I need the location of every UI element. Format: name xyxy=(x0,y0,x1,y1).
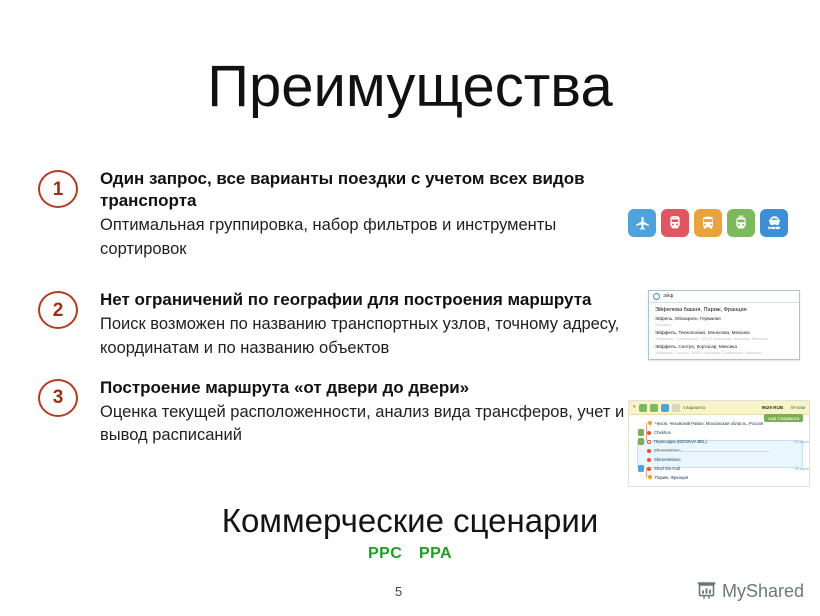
walk-mode-chip-icon xyxy=(672,404,680,412)
ppa-label: PPA xyxy=(419,545,452,562)
route-variants-count: 4 варианта xyxy=(683,405,706,410)
route-leg-row[interactable]: Sheremetievo xyxy=(629,455,809,464)
route-leg-row[interactable]: Chekhov xyxy=(629,428,809,437)
leg-label: Sheremetievo xyxy=(654,457,805,462)
route-duration: 8ч 54м xyxy=(791,405,805,410)
advantage-heading-2: Нет ограничений по географии для построе… xyxy=(100,289,628,311)
leg-note[interactable]: На карте xyxy=(794,440,809,444)
leg-label: Sharl-De-Goll xyxy=(654,466,790,471)
route-leg-row[interactable]: Париж, Франция xyxy=(629,473,809,482)
stop-dot-icon xyxy=(647,431,651,435)
leg-mode-slot xyxy=(637,465,645,472)
page-title: Преимущества xyxy=(0,58,820,116)
route-itinerary-screenshot: ▾ 4 варианта 9629 RUB 8ч 54м ещё 3 вариа… xyxy=(628,400,810,487)
leg-mode-slot xyxy=(637,429,645,436)
leg-mode-slot xyxy=(637,420,645,427)
route-leg-row[interactable]: Sharl-De-Goll На карте xyxy=(629,464,809,473)
advantage-item-1: 1 Один запрос, все варианты поездки с уч… xyxy=(38,168,628,261)
ppc-label: PPC xyxy=(368,545,402,562)
leg-label: Пересадка (MOSKVA BEL) xyxy=(654,439,790,444)
suggestion-subtitle: Эйффель, Сентро, 38300 Кортасар, Гуанаху… xyxy=(655,350,793,355)
suggestion-subtitle: Эйффель, Текнолохико, 25715 Монклова, Ко… xyxy=(655,336,793,341)
suggestion-item[interactable]: Эйффель, Текнолохико, Монклова, Мексика … xyxy=(649,329,799,343)
stop-dot-icon xyxy=(647,458,651,462)
advantage-heading-1: Один запрос, все варианты поездки с учет… xyxy=(100,168,628,212)
location-search-input[interactable]: Эйф xyxy=(649,291,799,303)
plane-mode-chip-icon xyxy=(661,404,669,412)
bus-mode-chip-icon xyxy=(650,404,658,412)
suggestion-item[interactable]: Эйффель, Сентро, Кортасар, Мексика Эйффе… xyxy=(649,342,799,356)
bus-icon xyxy=(694,209,722,237)
page-number: 5 xyxy=(395,584,402,599)
train-mode-chip-icon xyxy=(639,404,647,412)
leg-mode-slot xyxy=(637,474,645,481)
stop-dot-icon xyxy=(647,449,651,453)
stop-dot-icon xyxy=(647,467,651,471)
train-icon xyxy=(661,209,689,237)
leg-mode-slot xyxy=(637,447,645,454)
leg-label: Chekhov xyxy=(654,430,805,435)
route-leg-list: Чехов, Чеховский Район, Московская облас… xyxy=(629,415,809,486)
suggestion-list: Эйфелева башня, Париж, Франция Эйфель, О… xyxy=(649,303,799,359)
transfer-dot-icon xyxy=(647,440,651,444)
suggestion-item[interactable]: Эйфелева башня, Париж, Франция xyxy=(649,305,799,315)
advantage-heading-3: Построение маршрута «от двери до двери» xyxy=(100,377,628,399)
advantage-body-3: Оценка текущей расположенности, анализ в… xyxy=(100,401,628,448)
suggestion-subtitle: Germany xyxy=(655,322,793,327)
myshared-watermark: MyShared xyxy=(696,580,804,601)
leg-label: Париж, Франция xyxy=(655,475,805,480)
advantage-body-1: Оптимальная группировка, набор фильтров … xyxy=(100,214,628,261)
advantage-number-badge-2: 2 xyxy=(38,291,78,329)
ship-icon xyxy=(760,209,788,237)
advantage-number-badge-3: 3 xyxy=(38,379,78,417)
chevron-down-icon[interactable]: ▾ xyxy=(633,405,636,410)
leg-note[interactable]: На карте xyxy=(794,467,809,471)
advantage-item-3: 3 Построение маршрута «от двери до двери… xyxy=(38,377,628,448)
presentation-chart-icon xyxy=(696,580,717,601)
leg-mode-slot xyxy=(637,456,645,463)
transport-mode-icon-row xyxy=(628,209,788,237)
suggestion-item[interactable]: Эйфель, Ойскирхен, Германия Germany xyxy=(649,315,799,329)
route-leg-row[interactable]: Пересадка (MOSKVA BEL) На карте xyxy=(629,437,809,446)
route-summary-header[interactable]: ▾ 4 варианта 9629 RUB 8ч 54м xyxy=(629,401,809,415)
route-leg-row[interactable]: Sheremetievo xyxy=(629,446,809,455)
plane-icon xyxy=(628,209,656,237)
advantage-number-badge-1: 1 xyxy=(38,170,78,208)
commercial-scenarios-title: Коммерческие сценарии xyxy=(0,503,820,539)
ppc-ppa-labels: PPC PPA xyxy=(0,545,820,563)
brand-name: MyShared xyxy=(722,582,804,600)
suggestion-title: Эйфелева башня, Париж, Франция xyxy=(655,307,793,314)
map-pin-icon xyxy=(647,421,652,426)
map-pin-icon xyxy=(647,475,652,480)
advantage-item-2: 2 Нет ограничений по географии для постр… xyxy=(38,289,628,360)
tram-icon xyxy=(727,209,755,237)
search-query-text: Эйф xyxy=(663,294,673,299)
location-autocomplete-screenshot: Эйф Эйфелева башня, Париж, Франция Эйфел… xyxy=(648,290,800,360)
advantages-list: 1 Один запрос, все варианты поездки с уч… xyxy=(38,168,628,448)
more-variants-tooltip: ещё 3 варианта xyxy=(764,414,803,422)
leg-mode-slot xyxy=(637,438,645,445)
leg-divider xyxy=(655,451,769,452)
advantage-body-2: Поиск возможен по названию транспортных … xyxy=(100,313,628,360)
route-price: 9629 RUB xyxy=(762,405,783,410)
target-marker-icon xyxy=(653,293,660,300)
